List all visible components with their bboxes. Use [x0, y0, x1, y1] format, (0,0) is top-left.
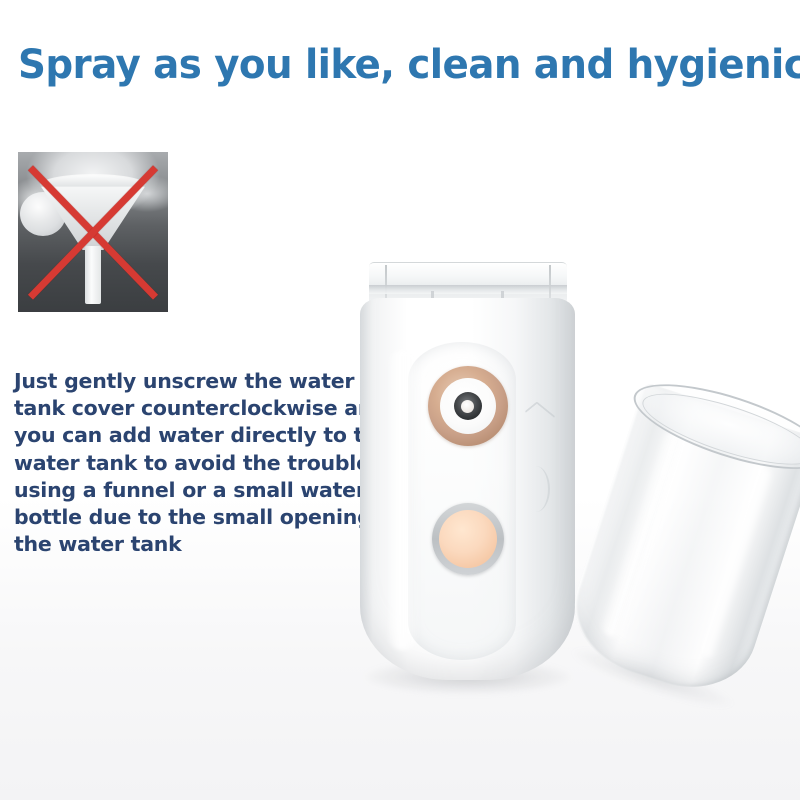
device-body [360, 298, 575, 680]
description-line: Just gently unscrew the water [14, 368, 370, 395]
chevron-up-icon [524, 401, 555, 426]
power-button[interactable] [432, 503, 504, 575]
nozzle-core [454, 392, 482, 420]
curve-mark-icon [522, 466, 550, 512]
cap-band [369, 285, 567, 294]
no-funnel-icon [18, 152, 168, 312]
transparent-cup [541, 364, 800, 720]
nozzle-ring [440, 378, 496, 434]
mist-nozzle-icon [428, 366, 508, 446]
description-line: bottle due to the small opening of [14, 504, 370, 531]
description-line: you can add water directly to the [14, 422, 370, 449]
description-line: water tank to avoid the trouble of [14, 450, 370, 477]
device-highlight [386, 350, 420, 650]
red-cross-icon [18, 152, 168, 312]
description-text: Just gently unscrew the water tank cover… [14, 368, 370, 558]
product-feature-panel: Spray as you like, clean and hygienic Ju… [0, 0, 800, 800]
device-transparent-cap [369, 262, 567, 303]
description-line: tank cover counterclockwise and [14, 395, 370, 422]
power-button-face [439, 510, 497, 568]
product-device [360, 262, 575, 682]
description-line: using a funnel or a small water [14, 477, 370, 504]
page-title: Spray as you like, clean and hygienic [18, 40, 765, 90]
description-line: the water tank [14, 531, 370, 558]
nozzle-pin [461, 400, 474, 413]
